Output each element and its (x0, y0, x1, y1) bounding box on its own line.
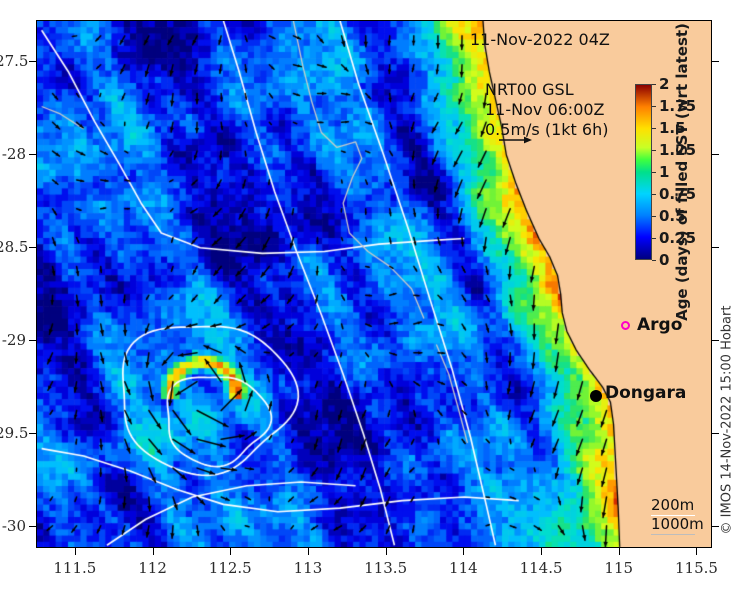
x-tick-mark (619, 548, 620, 555)
x-tick-label: 115 (604, 559, 633, 577)
x-tick-mark (541, 548, 542, 555)
colorbar-tick-label: 1 (659, 163, 669, 181)
colorbar-tick-label: 0 (659, 251, 669, 269)
model-time-label: 11-Nov 06:00Z (485, 100, 608, 120)
map-plot-area[interactable] (36, 20, 712, 548)
x-tick-label: 115.5 (675, 559, 718, 577)
x-tick-label: 113 (294, 559, 323, 577)
x-tick-label: 111.5 (53, 559, 96, 577)
y-tick-mark-right (712, 340, 719, 341)
y-tick-label: -30 (0, 517, 26, 535)
y-tick-mark-right (712, 154, 719, 155)
colorbar-title: Age (days) of filled SST (wrt latest) (673, 23, 691, 321)
depth-200m-label: 200m (651, 496, 704, 515)
colorbar-tick-mark (652, 260, 656, 261)
y-tick-mark-right (712, 61, 719, 62)
x-tick-label: 114.5 (520, 559, 563, 577)
y-tick-label: -27.5 (0, 52, 26, 70)
x-tick-mark (75, 548, 76, 555)
colorbar-tick-mark (652, 106, 656, 107)
y-tick-mark-right (712, 526, 719, 527)
colorbar-tick-mark (652, 172, 656, 173)
x-tick-mark (308, 548, 309, 555)
x-tick-label: 112.5 (209, 559, 252, 577)
x-tick-label: 113.5 (364, 559, 407, 577)
y-tick-label: -28.5 (0, 238, 26, 256)
depth-200m-rule (651, 515, 695, 516)
sst-age-map-figure: 11-Nov-2022 04Z NRT00 GSL 11-Nov 06:00Z … (0, 0, 740, 592)
y-tick-label: -28 (0, 145, 26, 163)
colorbar-tick-mark (652, 84, 656, 85)
x-tick-mark (696, 548, 697, 555)
y-tick-mark (29, 340, 36, 341)
y-tick-mark-right (712, 433, 719, 434)
y-tick-mark (29, 61, 36, 62)
colorbar-tick-mark (652, 128, 656, 129)
y-tick-label: -29.5 (0, 424, 26, 442)
colorbar-tick-mark (652, 238, 656, 239)
x-tick-mark (153, 548, 154, 555)
x-tick-label: 114 (449, 559, 478, 577)
y-tick-mark (29, 526, 36, 527)
model-annotation-block: NRT00 GSL 11-Nov 06:00Z 0.5m/s (1kt 6h) (485, 80, 608, 140)
coastline-overlay (37, 21, 712, 548)
credit-label: © IMOS 14-Nov-2022 15:00 Hobart (720, 306, 735, 535)
colorbar: 21.751.51.2510.750.50.250 (635, 84, 652, 260)
colorbar-gradient (635, 84, 652, 260)
y-tick-mark (29, 247, 36, 248)
reference-arrow-icon (498, 134, 532, 146)
colorbar-tick-mark (652, 216, 656, 217)
colorbar-tick-mark (652, 194, 656, 195)
dongara-label: Dongara (605, 383, 686, 403)
depth-1000m-label: 1000m (651, 515, 704, 534)
timestamp-label: 11-Nov-2022 04Z (470, 30, 610, 49)
argo-marker-icon[interactable] (621, 321, 630, 330)
model-name-label: NRT00 GSL (485, 80, 608, 100)
depth-1000m-rule (651, 534, 695, 535)
dongara-marker-icon[interactable] (590, 390, 602, 402)
y-tick-mark (29, 433, 36, 434)
colorbar-tick-label: 2 (659, 75, 669, 93)
x-tick-mark (463, 548, 464, 555)
colorbar-tick-mark (652, 150, 656, 151)
y-tick-mark (29, 154, 36, 155)
y-tick-mark-right (712, 247, 719, 248)
x-tick-mark (230, 548, 231, 555)
x-tick-label: 112 (138, 559, 167, 577)
y-tick-label: -29 (0, 331, 26, 349)
x-tick-mark (386, 548, 387, 555)
